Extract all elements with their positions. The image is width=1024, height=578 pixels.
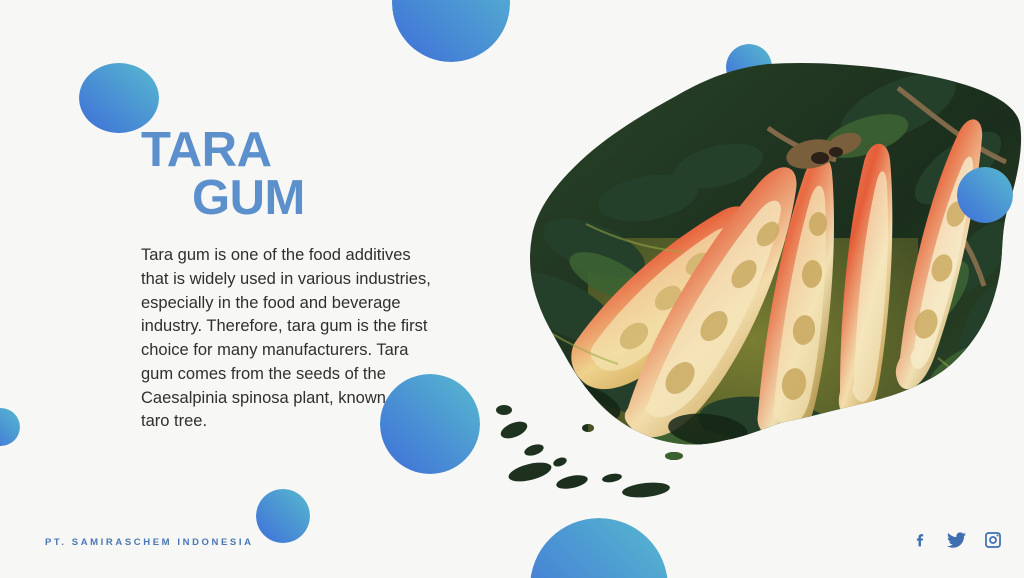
circle-right-edge [957,167,1013,223]
circle-left-tiny [0,408,20,446]
slide-canvas: TARA GUM Tara gum is one of the food add… [0,0,1024,578]
social-links [913,531,1002,549]
title-line-1: TARA [141,123,271,177]
circle-mid-text [380,374,480,474]
footer-brand: PT. SAMIRASCHEM INDONESIA [45,537,254,548]
facebook-icon[interactable] [913,532,929,548]
circle-top-middle [392,0,510,62]
instagram-icon[interactable] [984,531,1002,549]
twitter-icon[interactable] [947,532,966,548]
tara-pods-photo [468,58,1024,544]
title-line-2: GUM [141,174,441,222]
page-title: TARA GUM [141,126,441,222]
circle-bottom-small [256,489,310,543]
